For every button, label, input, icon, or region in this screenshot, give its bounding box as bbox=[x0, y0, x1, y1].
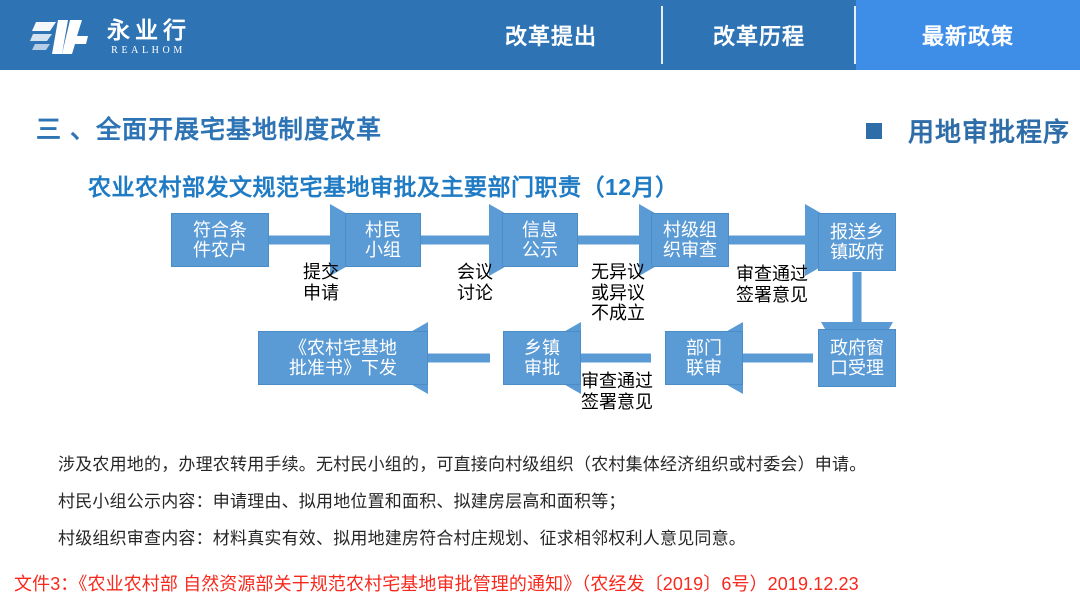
chart-title: 农业农村部发文规范宅基地审批及主要部门职责（12月） bbox=[88, 168, 679, 202]
square-bullet-icon bbox=[866, 123, 882, 139]
flow-node-n4[interactable]: 村级组 织审查 bbox=[651, 213, 729, 267]
app-header: 永业行 REALHOM 改革提出 改革历程 最新政策 bbox=[0, 0, 1080, 70]
flow-node-n6[interactable]: 政府窗 口受理 bbox=[818, 329, 896, 387]
brand-wordmark: 永业行 REALHOM bbox=[102, 19, 191, 56]
flow-node-n5[interactable]: 报送乡 镇政府 bbox=[818, 213, 896, 271]
body-paragraph: 村民小组公示内容：申请理由、拟用地位置和面积、拟建房层高和面积等； bbox=[58, 487, 626, 512]
flow-node-n1[interactable]: 符合条 件农户 bbox=[171, 213, 269, 267]
brand-name-en: REALHOM bbox=[107, 46, 186, 56]
flow-node-n9[interactable]: 《农村宅基地 批准书》下发 bbox=[258, 331, 428, 385]
flow-node-n7[interactable]: 部门 联审 bbox=[665, 331, 743, 385]
tab-reform-proposal[interactable]: 改革提出 bbox=[440, 0, 662, 70]
brand-logo[interactable]: 永业行 REALHOM bbox=[30, 12, 230, 62]
right-heading: 用地审批程序 bbox=[866, 112, 1070, 149]
yh-monogram-logo-icon bbox=[30, 16, 92, 58]
brand-name-cn: 永业行 bbox=[102, 19, 191, 42]
flow-node-n3[interactable]: 信息 公示 bbox=[502, 213, 578, 267]
right-heading-label: 用地审批程序 bbox=[908, 112, 1070, 149]
flow-edge-label-submit: 提交 申请 bbox=[271, 262, 371, 303]
flow-edge-label-no-objection: 无异议 或异议 不成立 bbox=[578, 262, 658, 324]
page-title: 三 、全面开展宅基地制度改革 bbox=[36, 110, 382, 146]
header-underline bbox=[0, 70, 1080, 73]
flowchart-connectors bbox=[0, 0, 1080, 608]
body-paragraph: 村级组织审查内容：材料真实有效、拟用地建房符合村庄规划、征求相邻权利人意见同意。 bbox=[58, 524, 746, 549]
tab-latest-policy[interactable]: 最新政策 bbox=[856, 0, 1080, 70]
tab-reform-history[interactable]: 改革历程 bbox=[663, 0, 855, 70]
footnote-source: 文件3：《农业农村部 自然资源部关于规范农村宅基地审批管理的通知》（农经发〔20… bbox=[14, 570, 859, 596]
body-paragraph: 涉及农用地的，办理农转用手续。无村民小组的，可直接向村级组织（农村集体经济组织或… bbox=[58, 450, 866, 475]
flow-edge-label-review-passed-bottom: 审查通过 签署意见 bbox=[572, 371, 662, 412]
flow-node-n8[interactable]: 乡镇 审批 bbox=[503, 331, 581, 385]
flow-node-n2[interactable]: 村民 小组 bbox=[345, 213, 421, 267]
flow-edge-label-review-passed-top: 审查通过 签署意见 bbox=[727, 264, 817, 305]
flow-edge-label-meeting: 会议 讨论 bbox=[425, 262, 525, 303]
